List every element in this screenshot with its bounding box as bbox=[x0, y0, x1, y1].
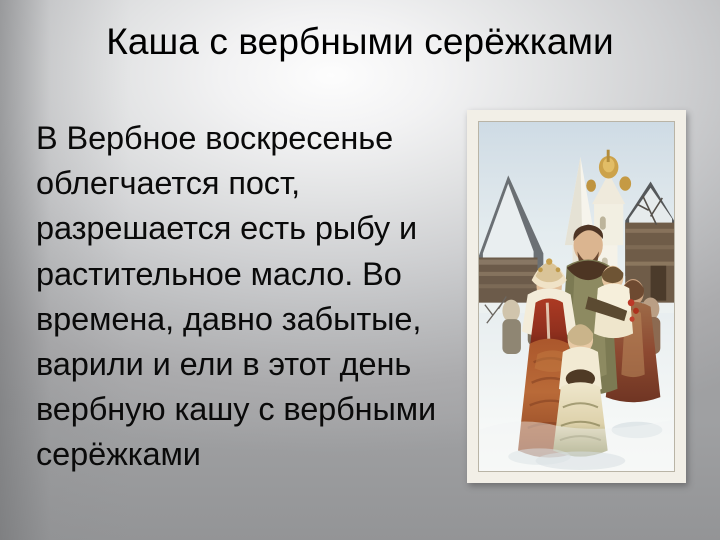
slide-canvas: Каша с вербными серёжками В Вербное воск… bbox=[0, 0, 720, 540]
picture-frame bbox=[467, 110, 686, 483]
body-paragraph: В Вербное воскресенье облегчается пост, … bbox=[36, 116, 466, 478]
russian-family-winter-painting bbox=[479, 122, 674, 471]
page-title: Каша с вербными серёжками bbox=[40, 18, 680, 65]
picture-mat bbox=[478, 121, 675, 472]
